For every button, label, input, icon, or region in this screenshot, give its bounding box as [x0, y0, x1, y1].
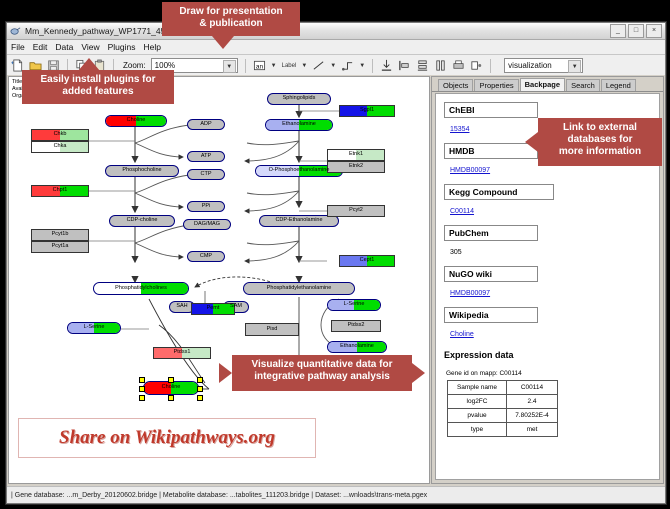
node-label: Sphingolipids	[283, 96, 316, 102]
chevron-down-icon[interactable]: ▼	[568, 60, 581, 73]
toolbar-separator	[245, 59, 246, 73]
metabolite-node-phosphatidylcholines[interactable]: Phosphatidylcholines	[93, 282, 189, 295]
metabolite-node-choline-top[interactable]: Choline	[105, 115, 167, 127]
node-label: L-Serine	[344, 302, 365, 308]
row-value: 2.4	[507, 395, 558, 409]
tab-legend[interactable]: Legend	[601, 79, 636, 91]
label-tool-label: Label	[282, 63, 297, 69]
callout-line-3: more information	[544, 146, 656, 158]
stack-vertical-icon[interactable]	[416, 59, 429, 72]
row-key: log2FC	[448, 395, 507, 409]
metabolite-node-l-serine-left[interactable]: L-Serine	[67, 322, 121, 334]
metabolite-node-ethanolamine-bottom[interactable]: Ethanolamine	[327, 341, 387, 353]
callout-line-1: Link to external	[544, 122, 656, 134]
db-header-hmdb: HMDB	[444, 143, 538, 159]
gene-node-sgpl1[interactable]: Sgpl1	[339, 105, 395, 117]
close-button[interactable]: ×	[646, 24, 662, 38]
row-key: Sample name	[448, 381, 507, 395]
node-label: Phosphatidylethanolamine	[267, 286, 332, 292]
node-label: Pcyt2	[349, 208, 363, 214]
callout-line-2: databases for	[544, 134, 656, 146]
callout-line-1: Visualize quantitative data for	[238, 359, 406, 371]
gene-node-etnk1[interactable]: Etnk1	[327, 149, 385, 161]
selection-handle[interactable]	[168, 395, 174, 401]
node-label: ADP	[200, 122, 211, 128]
metabolite-node-ethanolamine-top[interactable]: Ethanolamine	[265, 119, 333, 131]
status-text: | Gene database: ...m_Derby_20120602.bri…	[11, 492, 427, 499]
pathvisio-icon	[10, 26, 21, 37]
expression-data-heading: Expression data	[444, 350, 659, 360]
db-header-pubchem: PubChem	[444, 225, 538, 241]
node-label: L-Serine	[84, 325, 105, 331]
row-key: pvalue	[448, 409, 507, 423]
gene-node-pcyt1a[interactable]: Pcyt1a	[31, 241, 89, 253]
node-label: Chpt1	[53, 188, 68, 194]
node-label: Ethanolamine	[340, 344, 374, 350]
text-label-tool-icon[interactable]: an	[253, 59, 266, 72]
menu-item-help[interactable]: Help	[144, 42, 161, 52]
gene-node-cept1[interactable]: Cept1	[339, 255, 395, 267]
node-label: CDP-choline	[127, 218, 158, 224]
callout-line-1: Draw for presentation	[168, 6, 294, 18]
chevron-down-icon[interactable]: ▼	[271, 63, 277, 69]
metabolite-node-sphingolipids[interactable]: Sphingolipids	[267, 93, 331, 105]
align-top-icon[interactable]	[380, 59, 393, 72]
metabolite-node-choline-selected[interactable]: Choline	[143, 381, 199, 395]
db-header-chebi: ChEBI	[444, 102, 538, 118]
node-label: Ptdss1	[174, 350, 191, 356]
callout-line-2: & publication	[168, 18, 294, 30]
visualization-combo[interactable]: visualization ▼	[504, 58, 583, 73]
selection-handle[interactable]	[139, 395, 145, 401]
tab-objects[interactable]: Objects	[438, 79, 473, 91]
callout-line-1: Easily install plugins for	[28, 74, 168, 86]
gene-node-ptdss2[interactable]: Ptdss2	[331, 320, 381, 332]
node-label: O-Phosphoethanolamine	[269, 168, 330, 174]
node-label: Pcyt1a	[52, 244, 69, 250]
menu-item-data[interactable]: Data	[55, 42, 73, 52]
node-label: ATP	[201, 154, 211, 160]
node-label: Phosphatidylcholines	[115, 286, 167, 292]
node-label: Choline	[162, 385, 181, 391]
node-label: Phosphocholine	[122, 168, 161, 174]
metabolite-node-l-serine-right[interactable]: L-Serine	[327, 299, 381, 311]
row-value: 7.80252E-4	[507, 409, 558, 423]
metabolite-node-cdp-choline[interactable]: CDP-choline	[109, 215, 175, 227]
node-label: Pisd	[267, 327, 278, 333]
db-header-kegg-compound: Kegg Compound	[444, 184, 554, 200]
tab-backpage[interactable]: Backpage	[520, 78, 565, 91]
callout-arrow-up-icon	[78, 58, 100, 71]
metabolite-node-ctp[interactable]: CTP	[187, 169, 225, 180]
node-label: Ptdss2	[348, 323, 365, 329]
group-icon[interactable]	[470, 59, 483, 72]
node-label: DAG/MAG	[194, 222, 220, 228]
metabolite-node-dagmag[interactable]: DAG/MAG	[183, 219, 231, 230]
node-label: CTP	[201, 172, 212, 178]
metabolite-node-adp[interactable]: ADP	[187, 119, 225, 130]
zoom-label: Zoom:	[123, 61, 146, 70]
node-label: Choline	[127, 118, 146, 124]
metabolite-node-cmp[interactable]: CMP	[187, 251, 225, 262]
callout-arrow-right-icon	[219, 363, 232, 383]
minimize-button[interactable]: _	[610, 24, 626, 38]
metabolite-node-atp[interactable]: ATP	[187, 151, 225, 162]
side-panel-tabs: Objects Properties Backpage Search Legen…	[432, 77, 663, 92]
callout-share-on-wikipathways: Share on Wikipathways.org	[18, 418, 316, 458]
node-label: Chkb	[54, 132, 67, 138]
chevron-down-icon[interactable]: ▼	[301, 63, 307, 69]
callout-easily-install-plugins: Easily install plugins for added feature…	[22, 70, 174, 104]
node-label: PPi	[202, 204, 211, 210]
toolbar-separator	[372, 59, 373, 73]
row-key: type	[448, 423, 507, 437]
selection-handle[interactable]	[139, 386, 145, 392]
node-label: Pemt	[207, 306, 220, 312]
toolbar-separator	[490, 59, 491, 73]
node-label: SAH	[176, 304, 187, 310]
callout-arrow-down-icon	[212, 36, 234, 49]
gene-node-chkb[interactable]: Chkb	[31, 129, 89, 141]
tab-properties[interactable]: Properties	[474, 79, 518, 91]
line-tool-icon[interactable]	[312, 59, 325, 72]
gene-node-chpt1[interactable]: Chpt1	[31, 185, 89, 197]
chevron-down-icon[interactable]: ▼	[223, 60, 236, 73]
db-link-chebi[interactable]: 15354	[450, 126, 469, 133]
gene-node-pcyt1b[interactable]: Pcyt1b	[31, 229, 89, 241]
gene-node-etnk2[interactable]: Etnk2	[327, 161, 385, 173]
node-label: Sgpl1	[360, 108, 374, 114]
node-label: Etnk1	[349, 152, 363, 158]
selection-handle[interactable]	[197, 386, 203, 392]
maximize-button[interactable]: □	[628, 24, 644, 38]
gene-node-chka[interactable]: Chka	[31, 141, 89, 153]
node-label: CMP	[200, 254, 212, 260]
gene-node-ptdss1[interactable]: Ptdss1	[153, 347, 211, 359]
node-label: Chka	[54, 144, 67, 150]
callout-line-2: integrative pathway analysis	[238, 371, 406, 383]
metabolite-node-ppi[interactable]: PPi	[187, 201, 225, 212]
node-label: SAM	[230, 304, 242, 310]
menu-item-edit[interactable]: Edit	[33, 42, 48, 52]
callout-link-to-external-databases: Link to external databases for more info…	[538, 118, 662, 166]
db-link-nugo-wiki[interactable]: HMDB00097	[450, 290, 490, 297]
selection-handle[interactable]	[168, 377, 174, 383]
chevron-down-icon[interactable]: ▼	[330, 63, 336, 69]
callout-visualize-quantitative-data: Visualize quantitative data for integrat…	[232, 355, 412, 391]
gene-node-pcyt2[interactable]: Pcyt2	[327, 205, 385, 217]
db-link-hmdb[interactable]: HMDB00097	[450, 167, 490, 174]
status-bar: | Gene database: ...m_Derby_20120602.bri…	[7, 486, 665, 503]
metabolite-node-phosphatidylethanolamine[interactable]: Phosphatidylethanolamine	[243, 282, 355, 295]
table-row: type met	[448, 423, 558, 437]
callout-arrow-left-icon	[525, 132, 538, 152]
zoom-value: 100%	[155, 61, 175, 70]
node-label: Pcyt1b	[52, 232, 69, 238]
db-link-kegg-compound[interactable]: C00114	[450, 208, 474, 215]
node-label: Cept1	[360, 258, 375, 264]
table-row: Sample name C00114	[448, 381, 558, 395]
align-left-icon[interactable]	[398, 59, 411, 72]
menu-item-view[interactable]: View	[81, 42, 99, 52]
visualization-value: visualization	[508, 61, 552, 70]
chevron-down-icon[interactable]: ▼	[359, 63, 365, 69]
print-icon[interactable]	[452, 59, 465, 72]
menu-bar: File Edit Data View Plugins Help	[7, 40, 665, 55]
table-row: log2FC 2.4	[448, 395, 558, 409]
metabolite-node-phosphocholine[interactable]: Phosphocholine	[105, 165, 179, 177]
node-label: Ethanolamine	[282, 122, 316, 128]
gene-node-pisd[interactable]: Pisd	[245, 323, 299, 336]
gene-id-on-mapp: Gene id on mapp: C00114	[446, 370, 659, 377]
callout-line-2: added features	[28, 86, 168, 98]
expression-table: Sample name C00114 log2FC 2.4 pvalue 7.8…	[447, 380, 558, 437]
screenshot-root: Mm_Kennedy_pathway_WP1771_45176.gpml _ □…	[0, 0, 670, 509]
title-bar: Mm_Kennedy_pathway_WP1771_45176.gpml _ □…	[7, 23, 665, 40]
selection-handle[interactable]	[197, 377, 203, 383]
table-row: pvalue 7.80252E-4	[448, 409, 558, 423]
db-link-wikipedia[interactable]: Choline	[450, 331, 474, 338]
menu-item-plugins[interactable]: Plugins	[108, 42, 136, 52]
callout-draw-for-presentation: Draw for presentation & publication	[162, 2, 300, 36]
gene-node-pemt[interactable]: Pemt	[191, 303, 235, 315]
db-header-nugo-wiki: NuGO wiki	[444, 266, 538, 282]
selection-handle[interactable]	[139, 377, 145, 383]
svg-text:an: an	[256, 63, 264, 70]
share-text: Share on Wikipathways.org	[59, 427, 275, 449]
row-value: C00114	[507, 381, 558, 395]
menu-item-file[interactable]: File	[11, 42, 25, 52]
row-value: met	[507, 423, 558, 437]
connector-tool-icon[interactable]	[341, 59, 354, 72]
window-controls[interactable]: _ □ ×	[610, 24, 662, 38]
same-width-icon[interactable]	[434, 59, 447, 72]
tab-search[interactable]: Search	[566, 79, 600, 91]
db-header-wikipedia: Wikipedia	[444, 307, 538, 323]
callout-arrow-right-icon	[412, 363, 425, 383]
node-label: CDP-Ethanolamine	[275, 218, 322, 224]
db-value-pubchem: 305	[450, 249, 462, 256]
node-label: Etnk2	[349, 164, 363, 170]
selection-handle[interactable]	[197, 395, 203, 401]
